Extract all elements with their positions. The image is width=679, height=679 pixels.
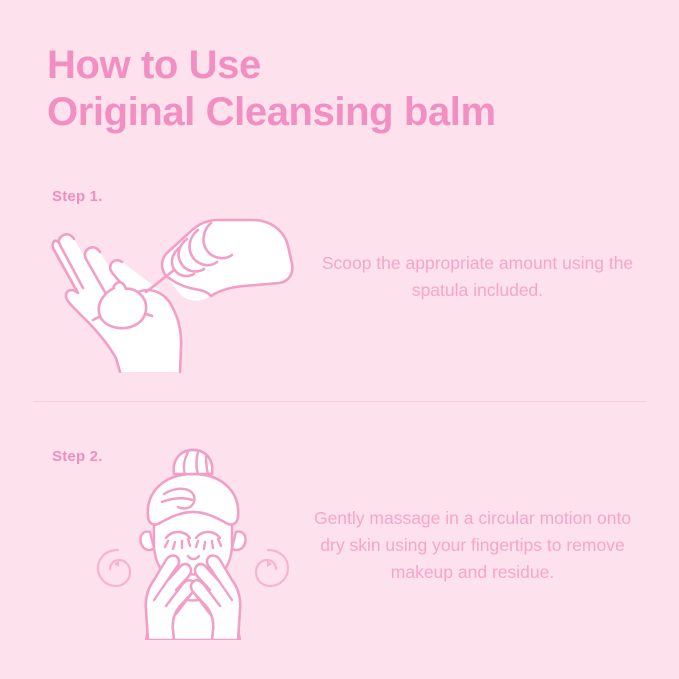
title-line-1: How to Use (47, 42, 647, 89)
lash-right-3 (212, 541, 213, 548)
step-2-illustration (88, 440, 298, 640)
spatula-handle (146, 270, 174, 292)
ear-left (140, 532, 154, 550)
title-line-2: Original Cleansing balm (47, 89, 647, 136)
section-divider (33, 401, 646, 402)
swirl-arrow-left-icon (98, 550, 130, 586)
ear-right (232, 532, 246, 550)
swirl-arrow-right-icon (256, 550, 288, 586)
step-2-description: Gently massage in a circular motion onto… (300, 505, 645, 586)
step-1-description: Scoop the appropriate amount using the s… (320, 250, 635, 304)
how-to-use-infographic: How to Use Original Cleansing balm Step … (0, 0, 679, 679)
page-title: How to Use Original Cleansing balm (47, 42, 647, 136)
step-1-illustration (48, 198, 300, 373)
lash-right-2 (204, 542, 205, 549)
